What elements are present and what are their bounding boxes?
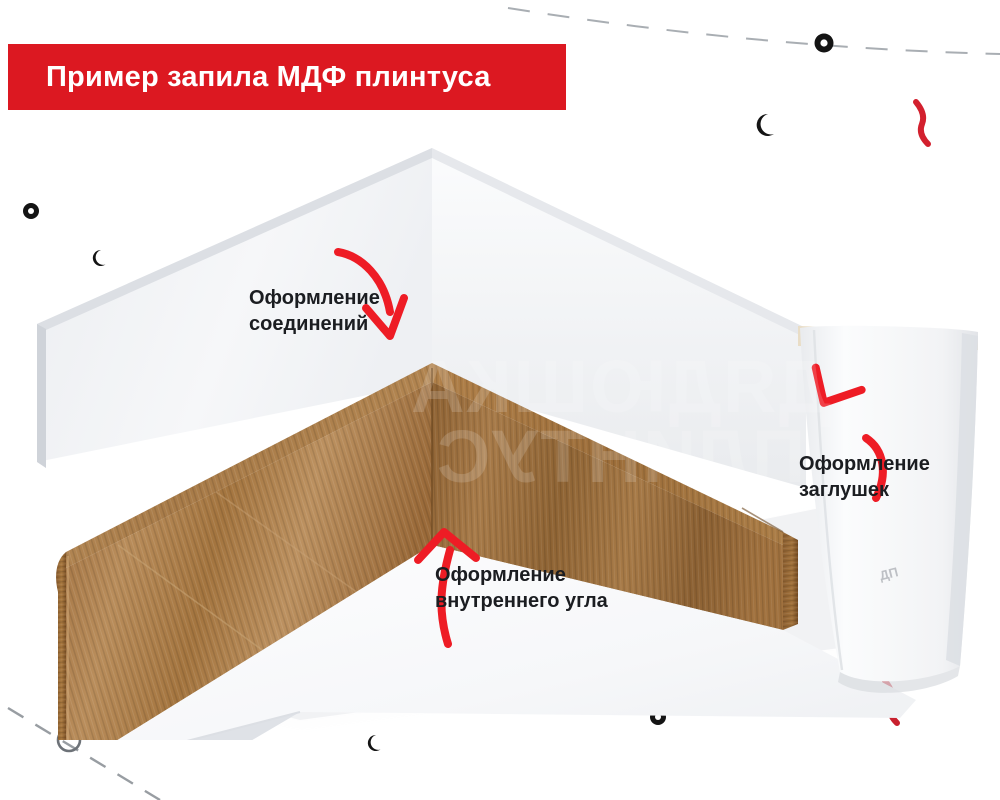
dashed-line-top [508,8,1000,54]
left-wall-panel-side [37,324,46,468]
image-canvas: Пример запила МДФ плинтуса [0,0,1000,800]
page-title: Пример запила МДФ плинтуса [46,61,491,94]
back-skirting-right-end-grain [783,532,798,630]
product-photo [0,100,1000,740]
left-skirting-end-cap-grain [56,552,66,740]
label-end-caps: Оформление заглушек [799,452,930,503]
label-joints: Оформление соединений [249,286,380,337]
ring-top-right [815,34,834,53]
label-inner-corner: Оформление внутреннего угла [435,563,608,614]
